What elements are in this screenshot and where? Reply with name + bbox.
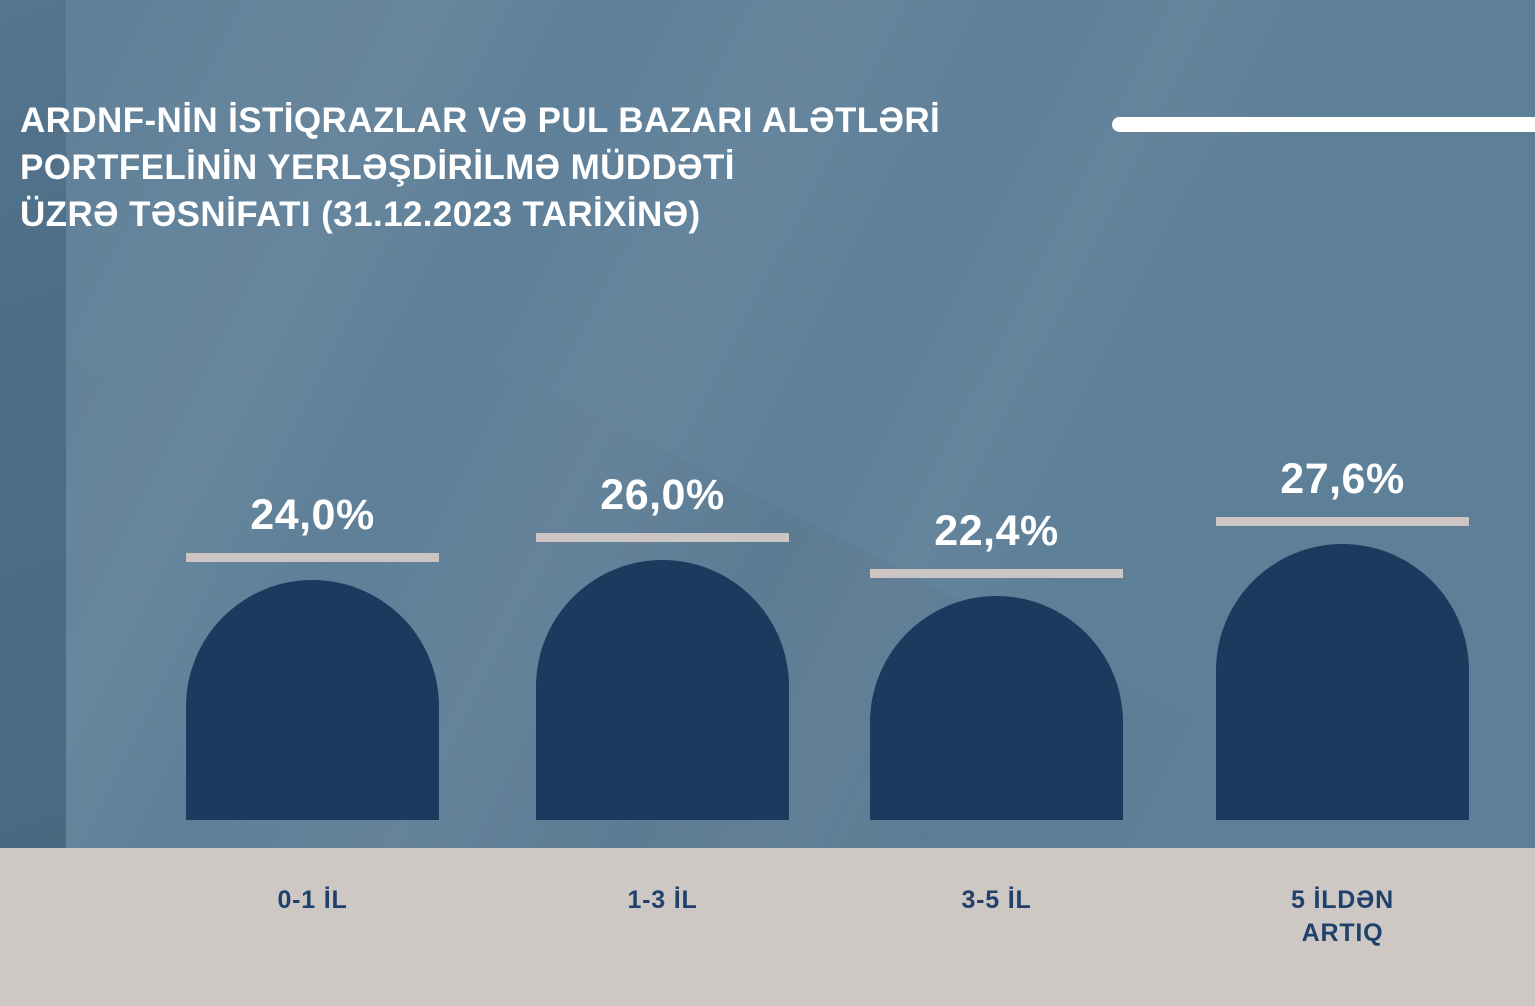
- category-label: 1-3 İL: [536, 884, 789, 917]
- value-rule: [186, 553, 439, 562]
- value-label: 26,0%: [536, 471, 789, 520]
- value-label: 22,4%: [870, 507, 1123, 556]
- bar[interactable]: [1216, 544, 1469, 820]
- category-label: 5 İLDƏN ARTIQ: [1216, 884, 1469, 950]
- category-label: 0-1 İL: [186, 884, 439, 917]
- bar[interactable]: [186, 580, 439, 820]
- value-rule: [870, 569, 1123, 578]
- bar-chart: 24,0%26,0%22,4%27,6%: [0, 0, 1535, 848]
- bar[interactable]: [536, 560, 789, 820]
- slide-canvas: ARDNF-NİN İSTİQRAZLAR VƏ PUL BAZARI ALƏT…: [0, 0, 1535, 1006]
- value-label: 24,0%: [186, 491, 439, 540]
- category-label: 3-5 İL: [870, 884, 1123, 917]
- category-axis-band: 0-1 İL1-3 İL3-5 İL5 İLDƏN ARTIQ: [0, 848, 1535, 1006]
- bar-group: [186, 580, 439, 820]
- bar[interactable]: [870, 596, 1123, 820]
- bar-group: [536, 560, 789, 820]
- value-rule: [1216, 517, 1469, 526]
- bar-group: [870, 596, 1123, 820]
- value-label: 27,6%: [1216, 455, 1469, 504]
- value-rule: [536, 533, 789, 542]
- bar-group: [1216, 544, 1469, 820]
